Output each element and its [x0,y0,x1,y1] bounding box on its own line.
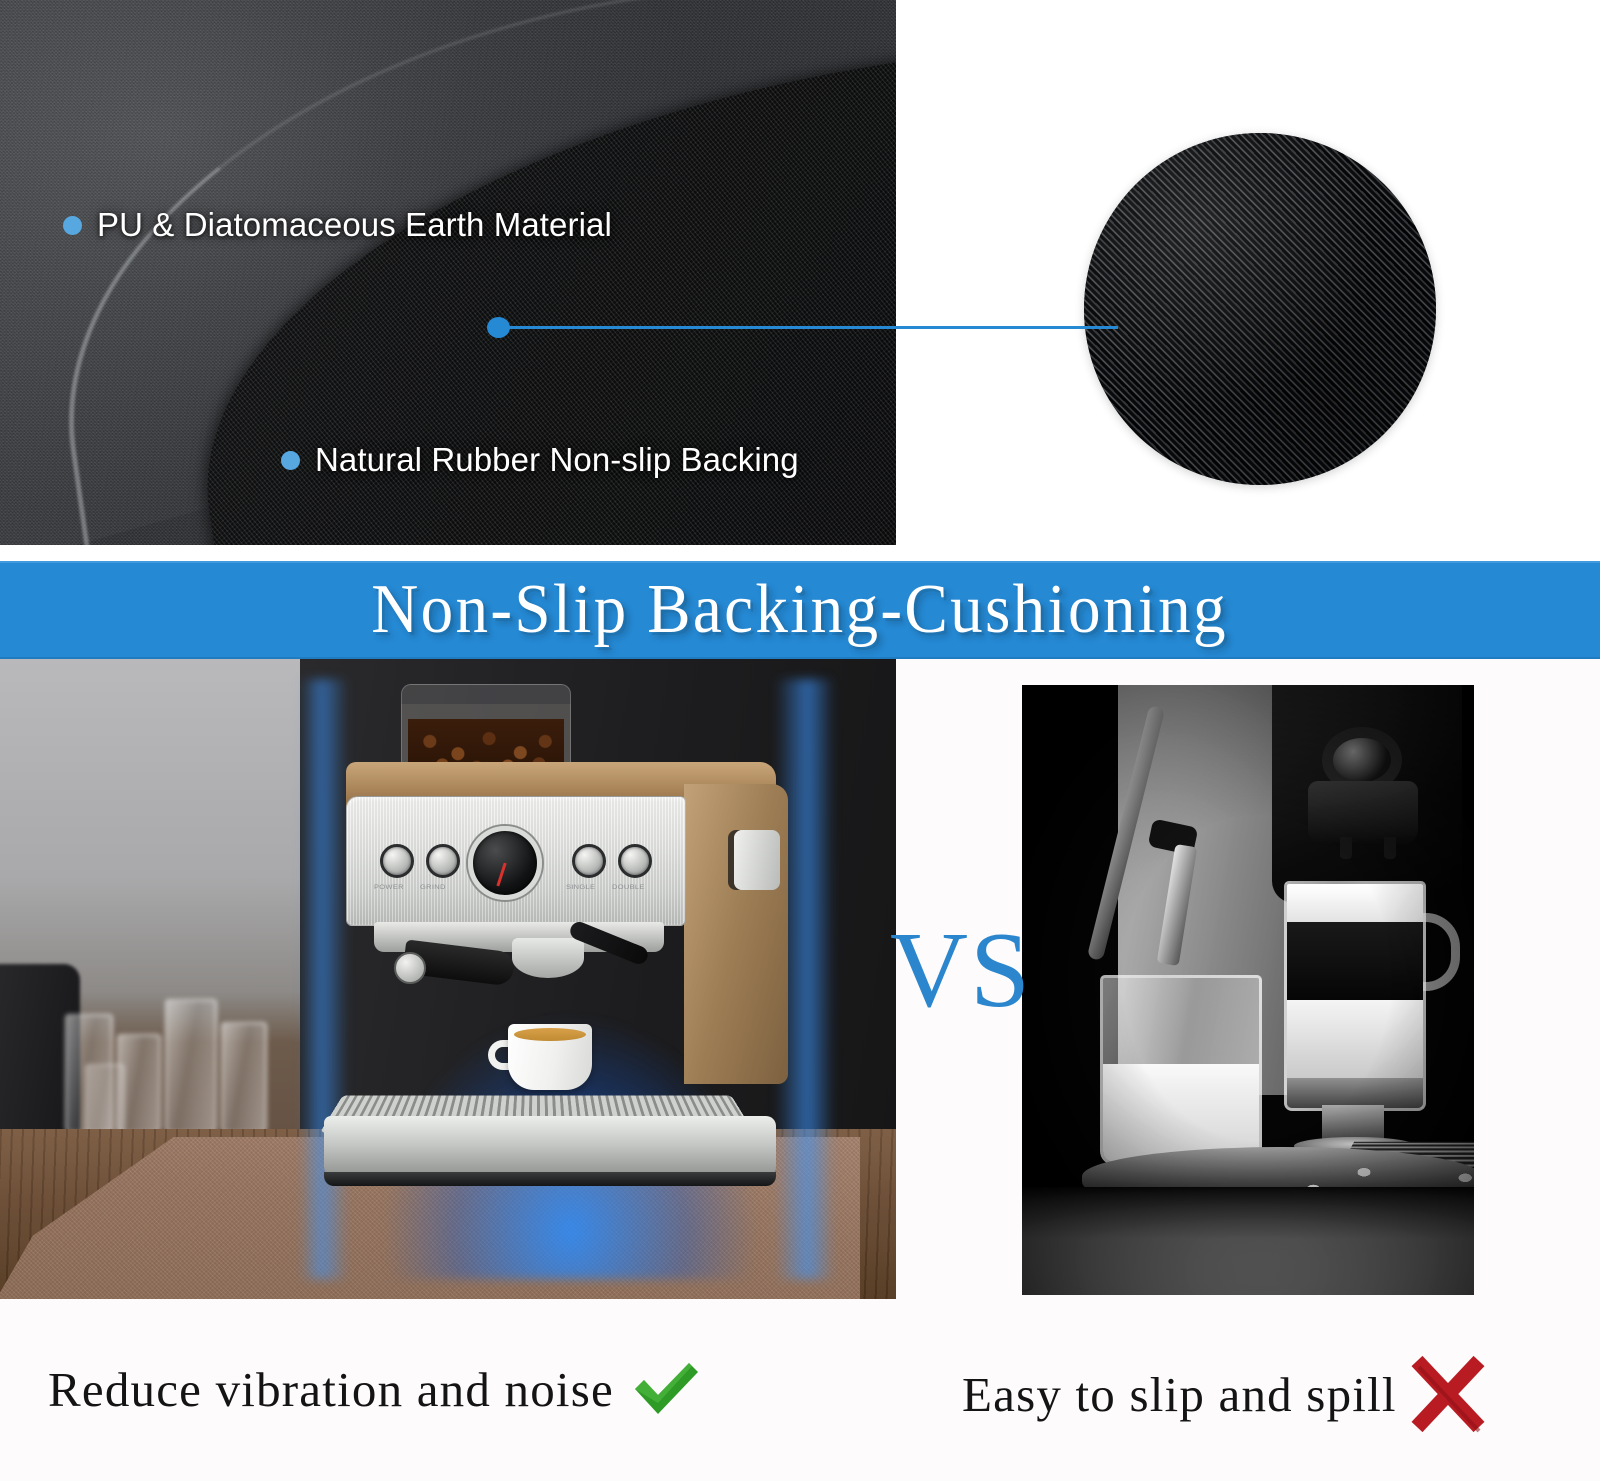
portafilter [512,938,584,978]
callout-material: PU & Diatomaceous Earth Material [63,206,612,244]
bw-coffee-dispenser [1308,781,1418,845]
bw-foam-layer [1287,884,1423,922]
machine-base-foot [324,1172,776,1186]
steam-knob[interactable] [394,952,426,984]
background-glassware [55,934,305,1134]
double-shot-button-label: DOUBLE [612,882,645,890]
grind-size-knob [734,830,780,890]
bw-milk-layer [1287,1000,1423,1078]
callout-material-label: PU & Diatomaceous Earth Material [97,206,612,244]
bw-dispenser-nozzle [1340,837,1352,859]
scene-bw-coffee-machine [1022,685,1474,1295]
bw-counter-floor [1022,1187,1474,1295]
glass-item [221,1022,267,1134]
vs-separator-label: VS [886,909,1036,1033]
callout-anchor-dot-icon [487,317,510,338]
power-button-label: POWER [374,882,404,890]
single-shot-button-label: SINGLE [566,882,595,890]
caption-negative-label: Easy to slip and spill [962,1366,1397,1423]
red-cross-icon [1411,1351,1491,1437]
grind-button[interactable] [426,844,460,878]
glass-item [85,1064,125,1134]
caption-positive-label: Reduce vibration and noise [48,1361,614,1418]
callout-backing: Natural Rubber Non-slip Backing [281,441,799,479]
caption-negative: Easy to slip and spill [962,1351,1491,1437]
double-shot-button[interactable] [618,844,652,878]
blue-dot-icon [281,451,300,470]
grind-button-label: GRIND [420,882,446,890]
caption-row: Reduce vibration and noise Easy to slip … [0,1299,1600,1481]
single-shot-button[interactable] [572,844,606,878]
glass-item [165,999,217,1134]
crema-layer [514,1028,586,1041]
green-check-icon [628,1351,704,1427]
pressure-gauge [468,826,542,900]
material-detail-section: PU & Diatomaceous Earth Material Natural… [0,0,1600,561]
machine-side-panel [684,784,788,1084]
section-banner: Non-Slip Backing-Cushioning [0,561,1600,659]
caption-positive: Reduce vibration and noise [48,1351,704,1427]
bw-milk-glass [1100,975,1262,1165]
blue-dot-icon [63,216,82,235]
scene-machine-on-mat: POWER GRIND SINGLE DOUBLE [0,659,896,1299]
product-infographic-page: PU & Diatomaceous Earth Material Natural… [0,0,1600,1481]
espresso-cup [508,1024,592,1090]
callout-backing-label: Natural Rubber Non-slip Backing [315,441,799,479]
bw-dispenser-nozzle [1384,837,1396,859]
banner-title: Non-Slip Backing-Cushioning [372,570,1229,650]
machine-base [324,1116,776,1178]
callout-leader-line-icon [498,326,1118,329]
rubber-weave-zoom-inset [1084,133,1436,485]
comparison-section: POWER GRIND SINGLE DOUBLE VS [0,659,1600,1299]
bw-glass-base-layer [1287,1078,1423,1108]
power-button[interactable] [380,844,414,878]
gauge-needle-icon [496,863,506,887]
espresso-machine: POWER GRIND SINGLE DOUBLE [316,684,816,1274]
bw-layered-latte-glass [1284,881,1426,1111]
bw-coffee-layer [1287,922,1423,1000]
